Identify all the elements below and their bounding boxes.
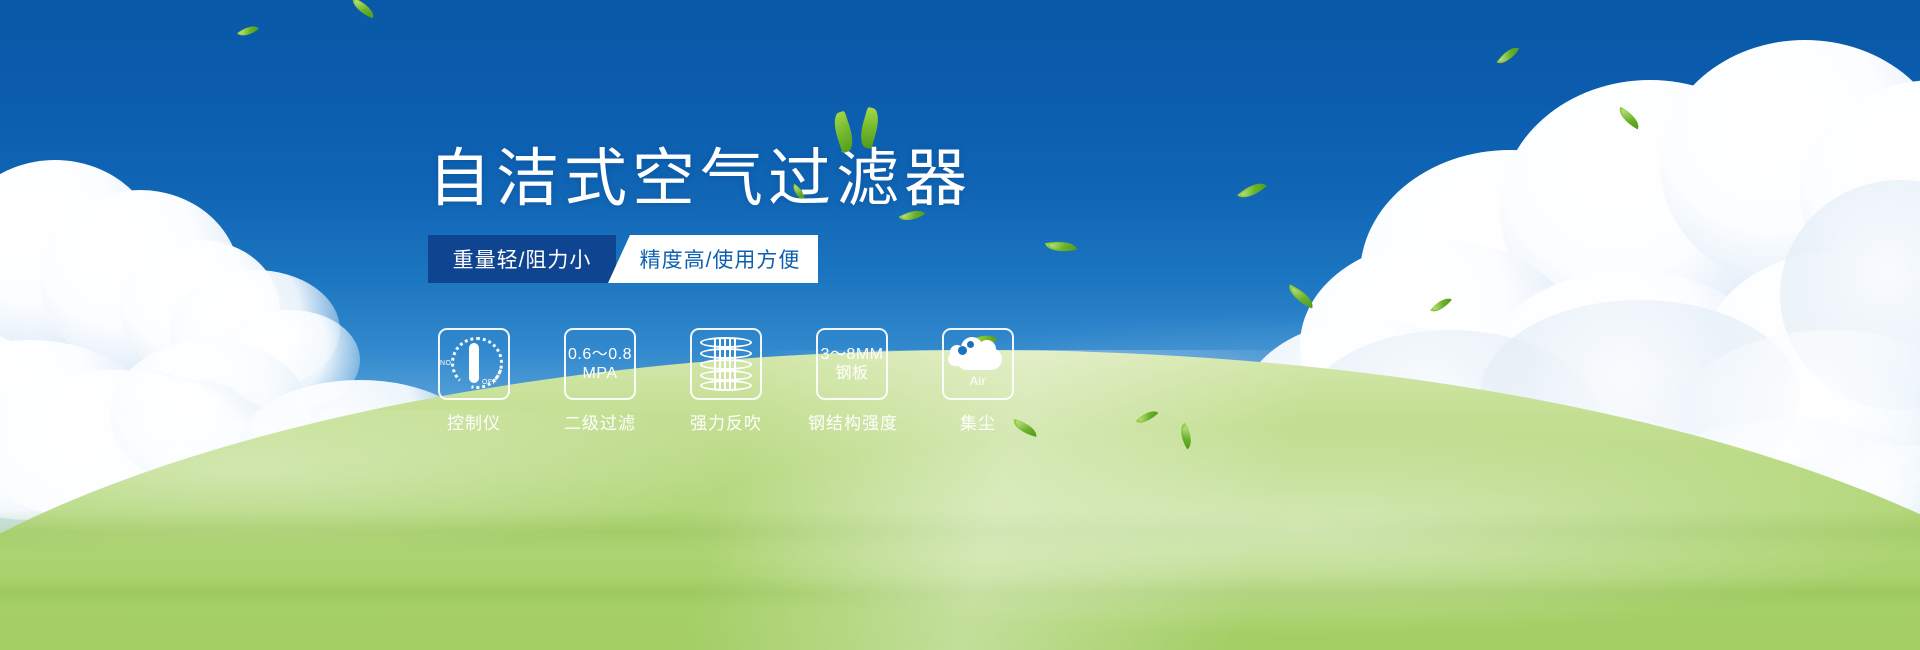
- feature-item-controller[interactable]: NO OFF 控制仪: [430, 328, 518, 434]
- feature-item-blowback[interactable]: 强力反吹: [682, 328, 770, 434]
- dial-gauge-icon: NO OFF: [442, 334, 506, 394]
- hero-banner: 自洁式空气过滤器 重量轻/阻力小 精度高/使用方便 NO: [0, 0, 1920, 650]
- feature-icon-box: Air: [942, 328, 1014, 400]
- air-label: Air: [948, 374, 1008, 388]
- feature-label: 钢结构强度: [808, 409, 896, 434]
- feature-icon-box: [690, 328, 762, 400]
- steel-material: 钢板: [821, 364, 884, 383]
- feature-label: 强力反吹: [682, 409, 770, 434]
- banner-content: 自洁式空气过滤器 重量轻/阻力小 精度高/使用方便 NO: [0, 0, 1920, 650]
- steel-thickness: 3～8MM: [821, 345, 884, 364]
- tagline-tab-2[interactable]: 精度高/使用方便: [608, 235, 818, 283]
- tagline-tab-1[interactable]: 重量轻/阻力小: [428, 235, 616, 283]
- tagline-tab-2-label: 精度高/使用方便: [640, 244, 801, 274]
- pressure-text-icon: 0.6～0.8 MPA: [568, 345, 632, 383]
- feature-item-filtration[interactable]: 0.6～0.8 MPA 二级过滤: [556, 328, 644, 434]
- tagline-tab-1-label: 重量轻/阻力小: [453, 244, 592, 274]
- title-sprout-icon: [836, 108, 896, 152]
- feature-icon-box: NO OFF: [438, 328, 510, 400]
- air-cloud-icon: Air: [948, 338, 1008, 390]
- feature-label: 控制仪: [430, 409, 518, 434]
- pressure-unit: MPA: [568, 364, 632, 383]
- dial-off-label: OFF: [482, 379, 497, 386]
- feature-item-dust-collection[interactable]: Air 集尘: [934, 328, 1022, 434]
- feature-label: 集尘: [934, 409, 1022, 434]
- steel-plate-text-icon: 3～8MM 钢板: [821, 345, 884, 383]
- pressure-value: 0.6～0.8: [568, 345, 632, 364]
- coil-filter-icon: [700, 337, 752, 391]
- feature-icon-box: 3～8MM 钢板: [816, 328, 888, 400]
- feature-list: NO OFF 控制仪 0.6～0.8 MPA 二级过滤: [430, 328, 1070, 438]
- dial-on-label: NO: [440, 360, 451, 367]
- feature-item-steel-strength[interactable]: 3～8MM 钢板 钢结构强度: [808, 328, 896, 434]
- feature-icon-box: 0.6～0.8 MPA: [564, 328, 636, 400]
- feature-label: 二级过滤: [556, 409, 644, 434]
